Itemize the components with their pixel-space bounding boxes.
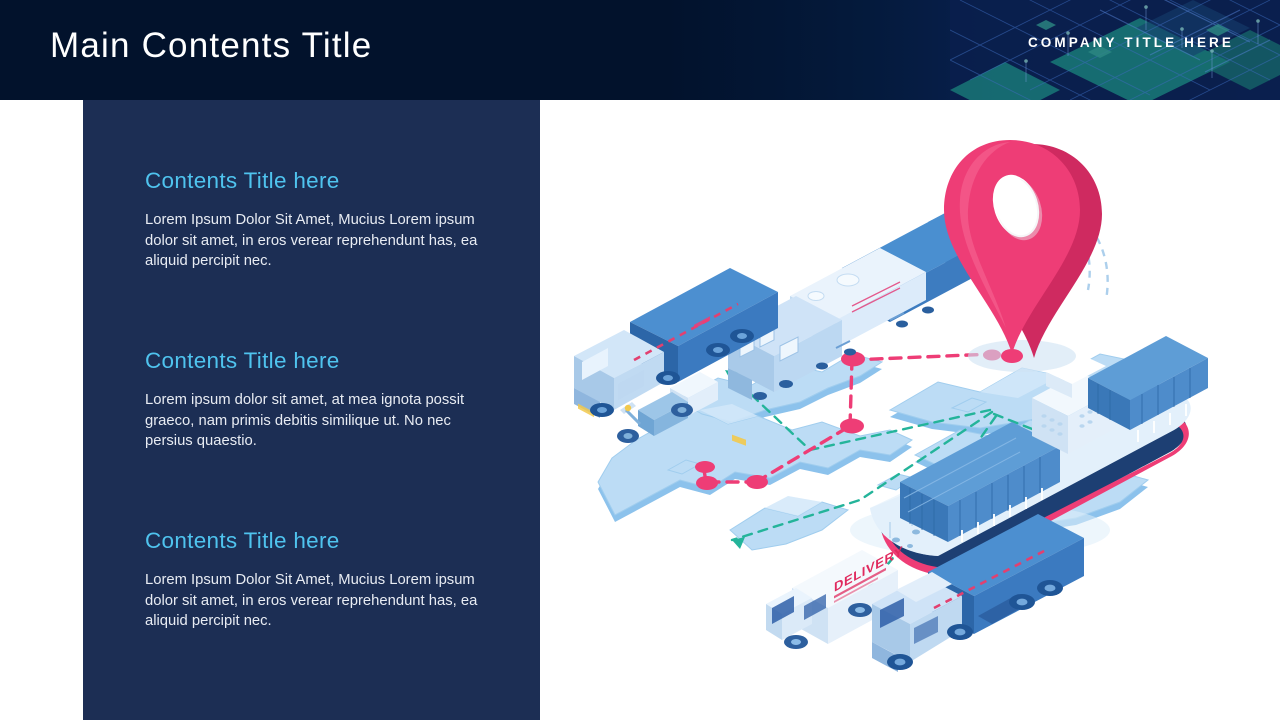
content-block-2-body: Lorem ipsum dolor sit amet, at mea ignot… [145,390,485,452]
content-block-3: Contents Title here Lorem Ipsum Dolor Si… [145,528,485,632]
content-block-3-title: Contents Title here [145,528,485,554]
page-title: Main Contents Title [50,26,372,66]
global-logistics-illustration: DELIVERY [560,110,1260,690]
slide-header: Main Contents Title COMPANY TITLE HERE [0,0,1280,100]
content-block-3-body: Lorem Ipsum Dolor Sit Amet, Mucius Lorem… [145,570,485,632]
logistics-map-svg: DELIVERY [560,110,1260,690]
content-block-1-title: Contents Title here [145,168,485,194]
content-block-1: Contents Title here Lorem Ipsum Dolor Si… [145,168,485,272]
content-sidebar: Contents Title here Lorem Ipsum Dolor Si… [83,100,540,720]
location-pin-marker-icon [944,140,1108,372]
company-title: COMPANY TITLE HERE [1028,35,1234,50]
header-tech-pattern-icon [950,0,1280,100]
slide: Main Contents Title COMPANY TITLE HERE C… [0,0,1280,720]
content-block-2: Contents Title here Lorem ipsum dolor si… [145,348,485,452]
content-block-1-body: Lorem Ipsum Dolor Sit Amet, Mucius Lorem… [145,210,485,272]
content-block-2-title: Contents Title here [145,348,485,374]
